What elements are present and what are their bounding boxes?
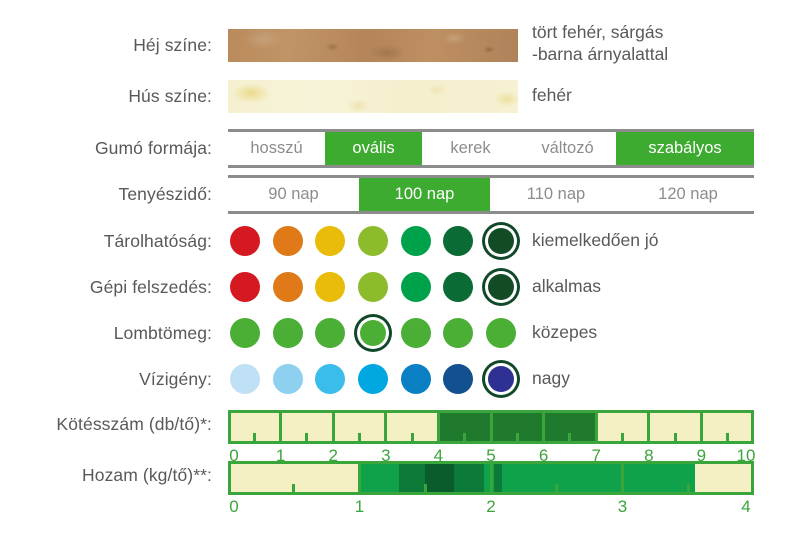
value-flesh-color: fehér [518,85,572,107]
machine-harvest-dot-5[interactable] [399,269,433,305]
scale-tick-0-8 [647,413,650,441]
machine-harvest-dot-fill-2 [273,272,303,302]
growing-period-segment-1[interactable]: 100 nap [359,178,490,211]
scale-tick-label-1-1: 1 [355,497,364,517]
scale-tick-0-6 [542,413,545,441]
label-foliage-mass: Lombtömeg: [0,323,228,344]
storability-dot-4[interactable] [356,223,390,259]
foliage-mass-dot-4[interactable] [356,315,390,351]
scale-tick-0-3 [384,413,387,441]
row-tuber-count: Kötésszám (db/tő)*: 012345678910 [0,410,800,468]
value-water-need: nagy [518,368,570,390]
scale-tick-0-3.5 [411,433,414,441]
value-machine-harvest: alkalmas [518,276,601,298]
scale-tick-0-0.5 [253,433,256,441]
dot-scale-foliage-mass[interactable] [228,313,518,353]
foliage-mass-dot-5[interactable] [399,315,433,351]
dot-scale-storability[interactable] [228,221,518,261]
machine-harvest-dot-2[interactable] [271,269,305,305]
scale-tick-0-7.5 [621,433,624,441]
scale-tick-label-1-2: 2 [486,497,495,517]
value-skin-color: tört fehér, sárgás -barna árnyalattal [518,22,668,66]
scale-track-yield[interactable] [228,461,754,495]
scale-tick-0-4 [437,413,440,441]
scale-tick-0-2.5 [358,433,361,441]
label-storability: Tárolhatóság: [0,231,228,252]
field-foliage-mass [228,313,518,353]
machine-harvest-dot-6[interactable] [442,269,476,305]
storability-dot-7[interactable] [484,223,518,259]
skin-color-swatch [228,29,518,62]
foliage-mass-dot-fill-4 [360,320,386,346]
scale-tick-0-7 [595,413,598,441]
water-need-dot-fill-4 [358,364,388,394]
label-yield: Hozam (kg/tő)**: [0,461,228,486]
storability-dot-1[interactable] [228,223,262,259]
segmented-bar-growing-period[interactable]: 90 nap100 nap110 nap120 nap [228,175,754,214]
scale-band-1-3 [454,464,484,492]
scale-tick-1-0.5 [292,484,295,492]
foliage-mass-dot-6[interactable] [442,315,476,351]
water-need-dot-fill-1 [230,364,260,394]
foliage-mass-dot-7[interactable] [484,315,518,351]
water-need-dot-fill-2 [273,364,303,394]
label-flesh-color: Hús színe: [0,86,228,107]
scale-band-1-0 [360,464,399,492]
storability-dot-6[interactable] [442,223,476,259]
scale-tick-0-5.5 [516,433,519,441]
row-foliage-mass: Lombtömeg: közepes [0,313,800,353]
water-need-dot-3[interactable] [313,361,347,397]
dot-scale-machine-harvest[interactable] [228,267,518,307]
value-foliage-mass: közepes [518,322,597,344]
machine-harvest-dot-fill-3 [315,272,345,302]
storability-dot-fill-7 [488,228,514,254]
field-storability [228,221,518,261]
scale-tick-1-2.5 [555,484,558,492]
row-machine-harvest: Gépi felszedés: alkalmas [0,267,800,307]
scale-tick-0-1 [279,413,282,441]
scale-tick-0-4.5 [463,433,466,441]
foliage-mass-dot-2[interactable] [271,315,305,351]
label-skin-color: Héj színe: [0,35,228,56]
growing-period-segment-0[interactable]: 90 nap [228,178,359,211]
scale-tick-label-1-0: 0 [229,497,238,517]
row-growing-period: Tenyészidő: 90 nap100 nap110 nap120 nap [0,175,800,214]
label-tuber-count: Kötésszám (db/tő)*: [0,410,228,435]
machine-harvest-dot-1[interactable] [228,269,262,305]
tuber-shape-segment-1[interactable]: ovális [325,132,422,165]
water-need-dot-fill-5 [401,364,431,394]
storability-dot-fill-1 [230,226,260,256]
water-need-dot-1[interactable] [228,361,262,397]
machine-harvest-dot-fill-1 [230,272,260,302]
growing-period-segment-2[interactable]: 110 nap [490,178,622,211]
foliage-mass-dot-fill-6 [443,318,473,348]
segmented-bar-tuber-shape[interactable]: hosszúováliskerekváltozószabályos [228,129,754,168]
label-machine-harvest: Gépi felszedés: [0,277,228,298]
field-skin-color [228,29,518,62]
machine-harvest-dot-7[interactable] [484,269,518,305]
storability-dot-2[interactable] [271,223,305,259]
storability-dot-3[interactable] [313,223,347,259]
scale-band-1-6 [502,464,695,492]
scale-yield: 01234 [228,461,754,523]
scale-band-1-2 [425,464,454,492]
foliage-mass-dot-3[interactable] [313,315,347,351]
scale-tick-0-2 [332,413,335,441]
dot-scale-water-need[interactable] [228,359,518,399]
scale-tick-1-3.5 [687,484,690,492]
storability-dot-fill-2 [273,226,303,256]
water-need-dot-4[interactable] [356,361,390,397]
scale-tick-label-1-3: 3 [618,497,627,517]
scale-axis-yield: 01234 [228,497,754,523]
storability-dot-fill-6 [443,226,473,256]
row-storability: Tárolhatóság: kiemelkedően jó [0,221,800,261]
scale-tick-0-6.5 [568,433,571,441]
foliage-mass-dot-fill-5 [401,318,431,348]
flesh-color-swatch [228,80,518,113]
machine-harvest-dot-4[interactable] [356,269,390,305]
field-flesh-color [228,80,518,113]
row-flesh-color: Hús színe: fehér [0,79,800,113]
tuber-shape-segment-3[interactable]: változó [519,132,616,165]
storability-dot-fill-5 [401,226,431,256]
value-storability: kiemelkedően jó [518,230,658,252]
row-water-need: Vízigény: nagy [0,359,800,399]
water-need-dot-2[interactable] [271,361,305,397]
water-need-dot-5[interactable] [399,361,433,397]
machine-harvest-dot-fill-7 [488,274,514,300]
foliage-mass-dot-fill-2 [273,318,303,348]
machine-harvest-dot-fill-5 [401,272,431,302]
tuber-shape-segment-2[interactable]: kerek [422,132,519,165]
storability-dot-fill-3 [315,226,345,256]
growing-period-segment-3[interactable]: 120 nap [622,178,754,211]
scale-tick-0-5 [490,413,493,441]
label-water-need: Vízigény: [0,369,228,390]
scale-tick-1-3 [621,464,624,492]
scale-tick-1-2 [490,464,493,492]
storability-dot-fill-4 [358,226,388,256]
tuber-shape-segment-0[interactable]: hosszú [228,132,325,165]
storability-dot-5[interactable] [399,223,433,259]
water-need-dot-fill-6 [443,364,473,394]
scale-tick-0-1.5 [305,433,308,441]
label-tuber-shape: Gumó formája: [0,138,228,159]
water-need-dot-fill-7 [488,366,514,392]
scale-band-1-5 [494,464,502,492]
water-need-dot-7[interactable] [484,361,518,397]
water-need-dot-6[interactable] [442,361,476,397]
tuber-shape-segment-4[interactable]: szabályos [616,132,754,165]
machine-harvest-dot-3[interactable] [313,269,347,305]
field-water-need [228,359,518,399]
foliage-mass-dot-1[interactable] [228,315,262,351]
row-tuber-shape: Gumó formája: hosszúováliskerekváltozósz… [0,129,800,168]
foliage-mass-dot-fill-3 [315,318,345,348]
row-yield: Hozam (kg/tő)**: 01234 [0,461,800,519]
foliage-mass-dot-fill-7 [486,318,516,348]
scale-tick-0-9 [700,413,703,441]
row-skin-color: Héj színe: tört fehér, sárgás -barna árn… [0,28,800,62]
scale-tick-0-8.5 [674,433,677,441]
scale-tick-0-9.5 [726,433,729,441]
machine-harvest-dot-fill-4 [358,272,388,302]
water-need-dot-fill-3 [315,364,345,394]
scale-tick-label-1-4: 4 [741,497,750,517]
variety-characteristics-sheet: Héj színe: tört fehér, sárgás -barna árn… [0,0,800,536]
scale-band-1-1 [399,464,425,492]
scale-tick-1-1 [358,464,361,492]
label-growing-period: Tenyészidő: [0,184,228,205]
scale-tick-1-1.5 [424,484,427,492]
scale-track-tuber-count[interactable] [228,410,754,444]
foliage-mass-dot-fill-1 [230,318,260,348]
machine-harvest-dot-fill-6 [443,272,473,302]
field-machine-harvest [228,267,518,307]
